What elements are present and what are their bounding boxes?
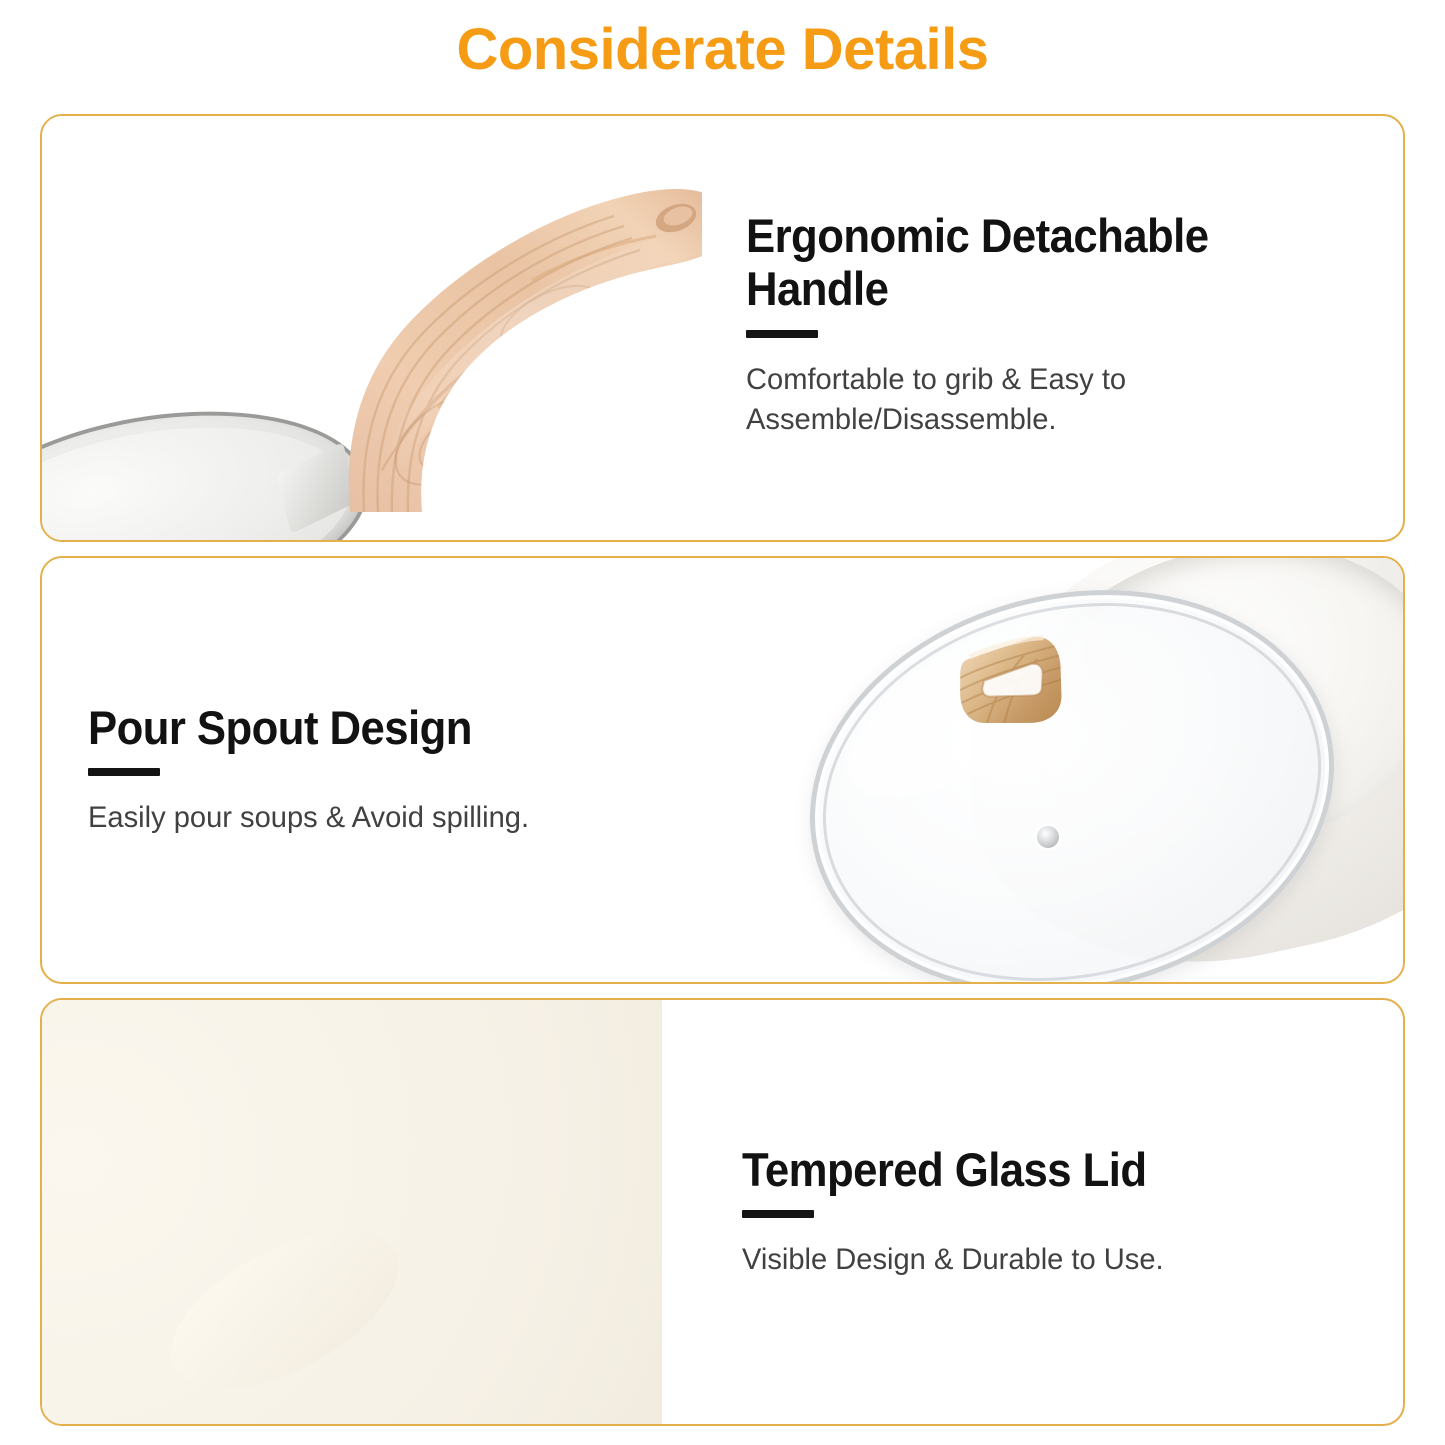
feature-card-ergonomic-detachable-handle: Ergonomic Detachable Handle Comfortable … — [40, 114, 1405, 542]
feature-description: Comfortable to grib & Easy to Assemble/D… — [746, 360, 1354, 440]
card-inner: Ergonomic Detachable Handle Comfortable … — [42, 116, 1403, 540]
wood-handle-shape — [232, 140, 702, 520]
feature-title: Ergonomic Detachable Handle — [746, 210, 1329, 315]
rim-speckles — [42, 1000, 662, 1424]
feature-title: Tempered Glass Lid — [742, 1144, 1329, 1197]
steam-vent-knob — [1037, 826, 1059, 848]
feature-description: Easily pour soups & Avoid spilling. — [88, 798, 733, 838]
feature-copy: Pour Spout Design Easily pour soups & Av… — [42, 558, 783, 982]
feature-copy: Tempered Glass Lid Visible Design & Dura… — [662, 1000, 1403, 1424]
glass-lid-illustration — [783, 558, 1403, 982]
wood-knob — [944, 626, 1079, 741]
card-inner: Tempered Glass Lid Visible Design & Dura… — [42, 1000, 1403, 1424]
infographic-page: Considerate Details — [0, 0, 1445, 1445]
feature-image-glass-lid — [783, 558, 1403, 982]
feature-copy: Ergonomic Detachable Handle Comfortable … — [702, 116, 1403, 540]
card-inner: Pour Spout Design Easily pour soups & Av… — [42, 558, 1403, 982]
accent-rule — [88, 768, 160, 776]
page-title: Considerate Details — [0, 16, 1445, 83]
feature-title: Pour Spout Design — [88, 702, 706, 755]
feature-card-pour-spout-design: Pour Spout Design Easily pour soups & Av… — [40, 556, 1405, 984]
feature-image-handle — [42, 116, 702, 540]
accent-rule — [746, 330, 818, 338]
feature-image-pour-spout — [42, 1000, 662, 1424]
pour-spout-illustration — [42, 1000, 662, 1424]
copy-stack: Pour Spout Design Easily pour soups & Av… — [88, 702, 753, 839]
feature-description: Visible Design & Durable to Use. — [742, 1240, 1354, 1280]
copy-stack: Ergonomic Detachable Handle Comfortable … — [746, 210, 1373, 439]
copy-stack: Tempered Glass Lid Visible Design & Dura… — [742, 1144, 1373, 1281]
accent-rule — [742, 1210, 814, 1218]
handle-illustration — [42, 116, 702, 540]
feature-card-tempered-glass-lid: Tempered Glass Lid Visible Design & Dura… — [40, 998, 1405, 1426]
